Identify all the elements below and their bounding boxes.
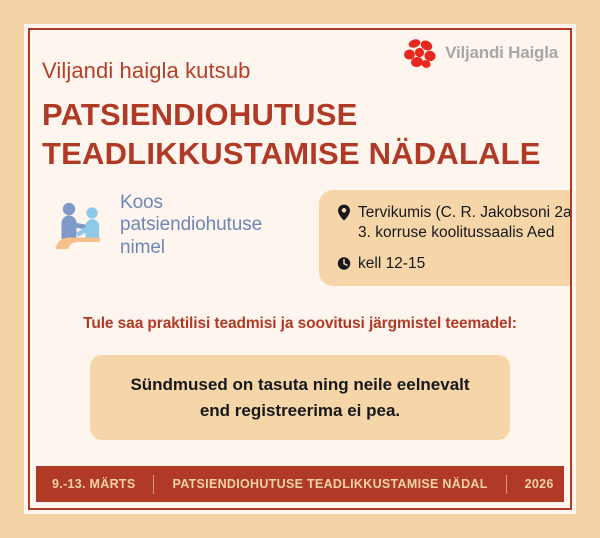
map-pin-icon — [337, 204, 351, 221]
partner-logo-text: Koos patsiendiohutuse nimel — [120, 192, 262, 259]
brand-name: Viljandi Haigla — [445, 43, 558, 63]
event-location-line-1: Tervikumis (C. R. Jakobsoni 2a) — [358, 203, 572, 223]
kicker-text: Viljandi haigla kutsub — [42, 58, 251, 84]
event-location-text: Tervikumis (C. R. Jakobsoni 2a) 3. korru… — [358, 203, 572, 243]
hospital-brand: Viljandi Haigla — [403, 38, 558, 68]
note-card: Sündmused on tasuta ning neile eelnevalt… — [90, 355, 510, 440]
poster-footer: 9.-13. MÄRTS PATSIENDIOHUTUSE TEADLIKKUS… — [36, 466, 564, 502]
middle-row: Koos patsiendiohutuse nimel Tervikumis (… — [30, 182, 570, 286]
footer-year: 2026 — [525, 477, 572, 491]
event-time-value: kell 12-15 — [358, 254, 425, 274]
event-location: Tervikumis (C. R. Jakobsoni 2a) 3. korru… — [337, 203, 560, 243]
partner-line-1: Koos — [120, 192, 262, 214]
event-info-box: Tervikumis (C. R. Jakobsoni 2a) 3. korru… — [319, 190, 570, 286]
flower-logo-icon — [403, 38, 437, 68]
event-time: kell 12-15 — [337, 254, 560, 274]
footer-dates: 9.-13. MÄRTS — [36, 477, 135, 491]
poster-header: Viljandi Haigla Viljandi haigla kutsub — [30, 30, 570, 86]
footer-divider-right — [506, 475, 507, 494]
note-line-1: Sündmused on tasuta ning neile eelnevalt — [106, 372, 494, 398]
footer-divider-left — [153, 475, 154, 494]
two-figures-in-hand-icon — [52, 195, 114, 257]
poster: Viljandi Haigla Viljandi haigla kutsub P… — [0, 0, 600, 538]
partner-line-3: nimel — [120, 237, 262, 259]
title-line-1: PATSIENDIOHUTUSE — [42, 97, 358, 132]
clock-icon — [337, 255, 351, 272]
page-title: PATSIENDIOHUTUSE TEADLIKKUSTAMISE NÄDALA… — [42, 96, 558, 174]
partner-logo: Koos patsiendiohutuse nimel — [52, 192, 262, 259]
note-line-2: end registreerima ei pea. — [106, 398, 494, 424]
title-line-2: TEADLIKKUSTAMISE NÄDALALE — [42, 135, 558, 174]
leadin-text: Tule saa praktilisi teadmisi ja soovitus… — [30, 315, 570, 333]
event-time-text: kell 12-15 — [358, 254, 425, 274]
event-location-line-2: 3. korruse koolitussaalis Aed — [358, 223, 572, 243]
poster-frame-outer: Viljandi Haigla Viljandi haigla kutsub P… — [24, 24, 576, 514]
poster-frame-inner: Viljandi Haigla Viljandi haigla kutsub P… — [28, 28, 572, 510]
footer-title: PATSIENDIOHUTUSE TEADLIKKUSTAMISE NÄDAL — [172, 477, 487, 491]
partner-line-2: patsiendiohutuse — [120, 214, 262, 236]
